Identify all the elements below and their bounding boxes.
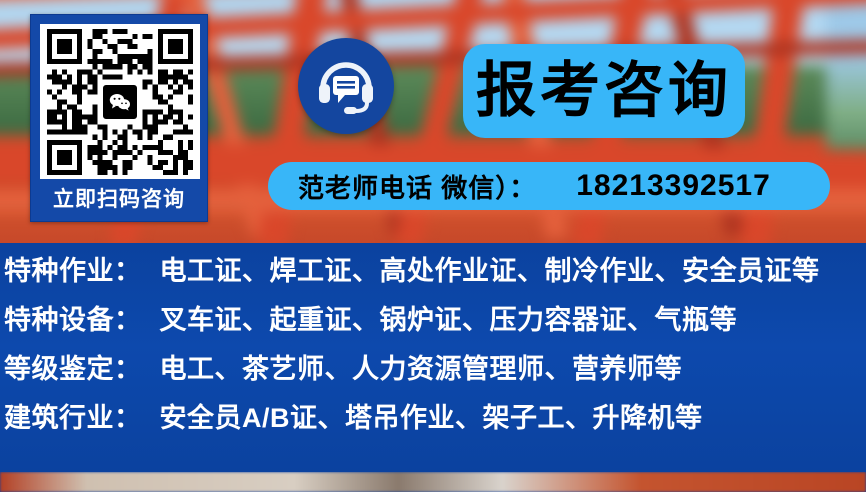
category-items: 安全员A/B证、塔吊作业、架子工、升降机等	[160, 396, 703, 435]
category-row-special-operations: 特种作业： 电工证、焊工证、高处作业证、制冷作业、安全员证等	[0, 249, 866, 298]
headset-support-icon	[298, 38, 394, 134]
page-title: 报考咨询	[476, 61, 732, 121]
qr-card-caption: 立即扫码咨询	[31, 183, 207, 213]
category-label: 建筑行业：	[4, 396, 142, 435]
contact-phone-pill[interactable]: 范老师电话 微信）： 18213392517	[268, 162, 830, 210]
advertisement-poster: 立即扫码咨询 报考咨询 范老师电话 微信）： 18213392517 特种作业：…	[0, 0, 866, 492]
category-items: 电工证、焊工证、高处作业证、制冷作业、安全员证等	[160, 249, 820, 288]
category-label: 特种作业：	[4, 249, 142, 288]
qr-code-image[interactable]	[40, 24, 200, 179]
qr-code-card[interactable]: 立即扫码咨询	[30, 14, 208, 222]
contact-label: 范老师电话 微信）：	[298, 168, 536, 205]
contact-phone-number[interactable]: 18213392517	[576, 169, 771, 203]
consultation-title-pill: 报考咨询	[463, 44, 745, 138]
bottom-photo-strip	[0, 472, 866, 492]
category-label: 特种设备：	[4, 298, 142, 337]
category-items: 电工、茶艺师、人力资源管理师、营养师等	[160, 347, 683, 386]
wechat-icon	[100, 82, 140, 122]
category-row-construction-industry: 建筑行业： 安全员A/B证、塔吊作业、架子工、升降机等	[0, 396, 866, 445]
category-row-special-equipment: 特种设备： 叉车证、起重证、锅炉证、压力容器证、气瓶等	[0, 298, 866, 347]
certificate-category-panel: 特种作业： 电工证、焊工证、高处作业证、制冷作业、安全员证等 特种设备： 叉车证…	[0, 243, 866, 472]
category-items: 叉车证、起重证、锅炉证、压力容器证、气瓶等	[160, 298, 738, 337]
category-label: 等级鉴定：	[4, 347, 142, 386]
category-row-grade-assessment: 等级鉴定： 电工、茶艺师、人力资源管理师、营养师等	[0, 347, 866, 396]
